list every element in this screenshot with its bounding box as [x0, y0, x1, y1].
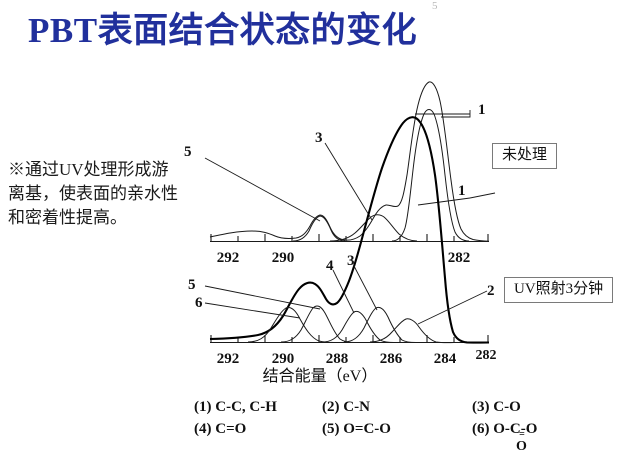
lower-leader-2 [418, 291, 487, 324]
upper-tick-label-282: 282 [448, 250, 471, 267]
legend-item-2: (2) C-N [322, 398, 472, 417]
lower-tick-label-284: 284 [434, 351, 457, 368]
upper-leader-1a [441, 110, 470, 117]
upper-callout-1-top: 1 [478, 102, 486, 119]
upper-callout-5: 5 [184, 144, 192, 161]
lower-panel [205, 117, 489, 342]
legend-item-6: (6) O-C-O [472, 420, 614, 439]
lower-callout-6: 6 [195, 295, 203, 312]
lower-tick-label-282: 282 [476, 348, 497, 364]
upper-callout-3: 3 [315, 130, 323, 147]
legend-item-3: (3) C-O [472, 398, 614, 417]
lower-leader-3 [354, 266, 377, 310]
lower-tick-label-292: 292 [217, 351, 240, 368]
legend-item-1: (1) C-C, C-H [194, 398, 322, 417]
x-axis-label: 结合能量（eV） [263, 362, 378, 386]
lower-component-3 [344, 307, 417, 342]
lower-callout-2: 2 [487, 283, 495, 300]
xps-spectra-figure [0, 0, 640, 456]
upper-leader-5 [205, 158, 320, 221]
upper-leader-3 [325, 143, 372, 220]
upper-callout-1-bottom: 1 [458, 183, 466, 200]
lower-callout-3: 3 [347, 253, 355, 270]
lower-component-4 [322, 311, 395, 342]
slide-canvas: 5 PBT表面结合状态的变化 ※通过UV处理形成游离基，使表面的亲水性和密着性提… [0, 0, 640, 456]
upper-envelope-curve [210, 82, 489, 241]
lower-callout-5: 5 [188, 277, 196, 294]
oxygen-atom-label: O [516, 439, 527, 454]
lower-tick-label-286: 286 [380, 351, 403, 368]
legend-item-6-carbonyl: = O [516, 430, 527, 453]
upper-tick-label-290: 290 [272, 250, 295, 267]
lower-component-2 [370, 319, 454, 343]
upper-panel [205, 82, 495, 242]
upper-component-1 [392, 110, 469, 242]
lower-callout-4: 4 [326, 258, 334, 275]
legend: (1) C-C, C-H (2) C-N (3) C-O (4) C=O (5)… [194, 398, 614, 439]
upper-tick-label-292: 292 [217, 250, 240, 267]
legend-item-5: (5) O=C-O [322, 420, 472, 439]
legend-item-4: (4) C=O [194, 420, 322, 439]
upper-leader-1b2 [470, 193, 495, 198]
